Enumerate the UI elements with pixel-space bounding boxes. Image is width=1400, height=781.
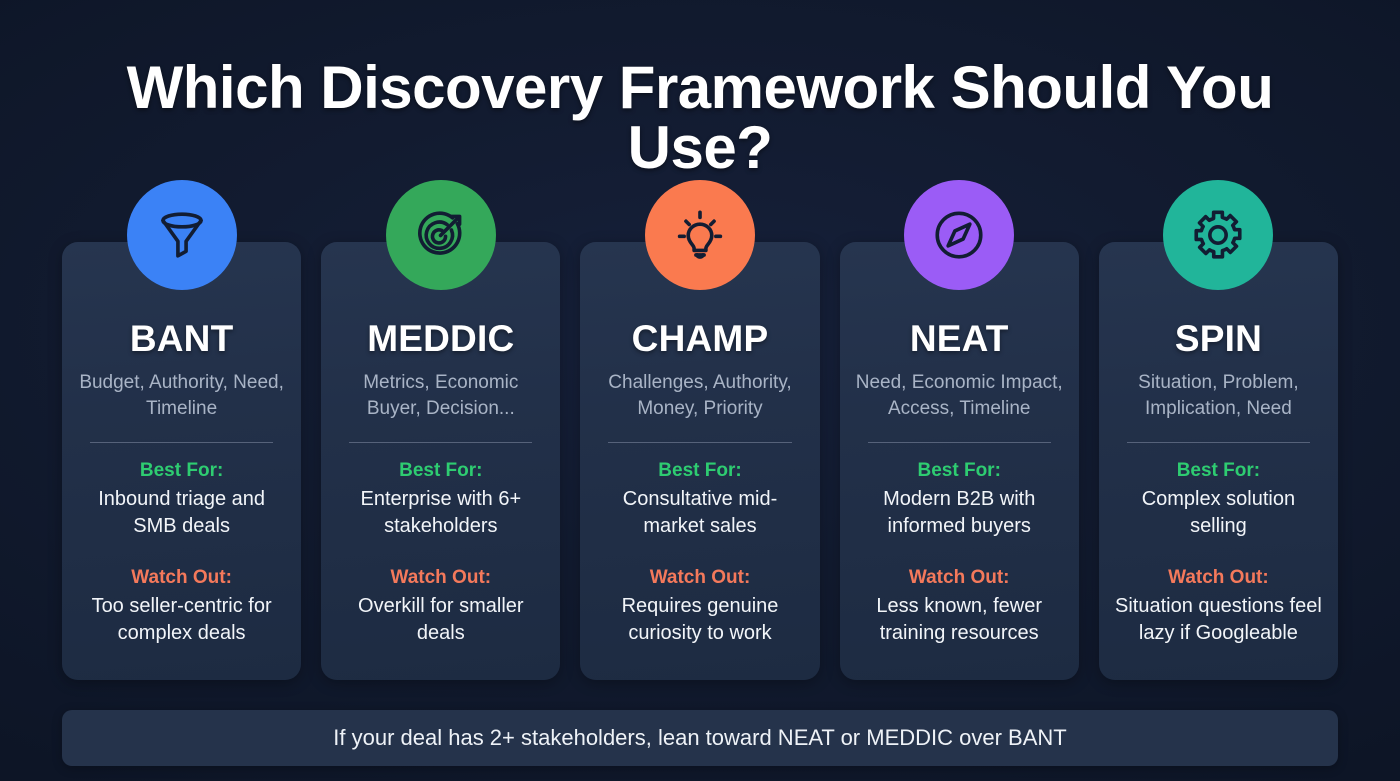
card-icon-badge [127,180,237,290]
framework-card[interactable]: MEDDIC Metrics, Economic Buyer, Decision… [321,242,560,680]
card-divider [608,442,791,443]
watch-out-text: Requires genuine curiosity to work [594,593,805,648]
watch-out-text: Situation questions feel lazy if Googlea… [1113,593,1324,648]
card-icon-badge [904,180,1014,290]
framework-expansion: Challenges, Authority, Money, Priority [594,370,805,422]
framework-card[interactable]: BANT Budget, Authority, Need, Timeline B… [62,242,301,680]
watch-out-text: Less known, fewer training resources [854,593,1065,648]
framework-name: MEDDIC [335,320,546,359]
best-for-text: Complex solution selling [1113,486,1324,541]
funnel-icon [153,206,211,264]
card-divider [349,442,532,443]
best-for-label: Best For: [335,460,546,483]
framework-expansion: Budget, Authority, Need, Timeline [76,370,287,422]
target-icon [412,206,470,264]
best-for-section: Best For: Complex solution selling [1113,460,1324,541]
framework-card-row: BANT Budget, Authority, Need, Timeline B… [62,242,1338,680]
card-icon-badge [1163,180,1273,290]
framework-expansion: Metrics, Economic Buyer, Decision... [335,370,546,422]
card-icon-badge [386,180,496,290]
compass-icon [930,206,988,264]
best-for-section: Best For: Consultative mid-market sales [594,460,805,541]
best-for-text: Consultative mid-market sales [594,486,805,541]
card-icon-badge [645,180,755,290]
best-for-text: Inbound triage and SMB deals [76,486,287,541]
watch-out-section: Watch Out: Situation questions feel lazy… [1113,567,1324,648]
best-for-label: Best For: [854,460,1065,483]
framework-name: CHAMP [594,320,805,359]
watch-out-text: Overkill for smaller deals [335,593,546,648]
best-for-section: Best For: Inbound triage and SMB deals [76,460,287,541]
page-title: Which Discovery Framework Should You Use… [62,58,1338,178]
card-divider [1127,442,1310,443]
framework-name: SPIN [1113,320,1324,359]
card-divider [868,442,1051,443]
watch-out-label: Watch Out: [76,567,287,590]
watch-out-section: Watch Out: Too seller-centric for comple… [76,567,287,648]
best-for-text: Modern B2B with informed buyers [854,486,1065,541]
summary-banner: If your deal has 2+ stakeholders, lean t… [62,710,1338,766]
watch-out-label: Watch Out: [594,567,805,590]
framework-expansion: Situation, Problem, Implication, Need [1113,370,1324,422]
gear-icon [1189,206,1247,264]
framework-name: BANT [76,320,287,359]
framework-name: NEAT [854,320,1065,359]
best-for-label: Best For: [1113,460,1324,483]
best-for-section: Best For: Enterprise with 6+ stakeholder… [335,460,546,541]
infographic-page: Which Discovery Framework Should You Use… [0,0,1400,781]
watch-out-label: Watch Out: [335,567,546,590]
framework-card[interactable]: NEAT Need, Economic Impact, Access, Time… [840,242,1079,680]
lightbulb-icon [671,206,729,264]
framework-card[interactable]: SPIN Situation, Problem, Implication, Ne… [1099,242,1338,680]
summary-banner-text: If your deal has 2+ stakeholders, lean t… [333,727,1066,749]
watch-out-label: Watch Out: [854,567,1065,590]
best-for-section: Best For: Modern B2B with informed buyer… [854,460,1065,541]
watch-out-label: Watch Out: [1113,567,1324,590]
framework-expansion: Need, Economic Impact, Access, Timeline [854,370,1065,422]
framework-card[interactable]: CHAMP Challenges, Authority, Money, Prio… [580,242,819,680]
best-for-label: Best For: [594,460,805,483]
best-for-label: Best For: [76,460,287,483]
watch-out-section: Watch Out: Requires genuine curiosity to… [594,567,805,648]
watch-out-text: Too seller-centric for complex deals [76,593,287,648]
watch-out-section: Watch Out: Overkill for smaller deals [335,567,546,648]
watch-out-section: Watch Out: Less known, fewer training re… [854,567,1065,648]
card-divider [90,442,273,443]
best-for-text: Enterprise with 6+ stakeholders [335,486,546,541]
